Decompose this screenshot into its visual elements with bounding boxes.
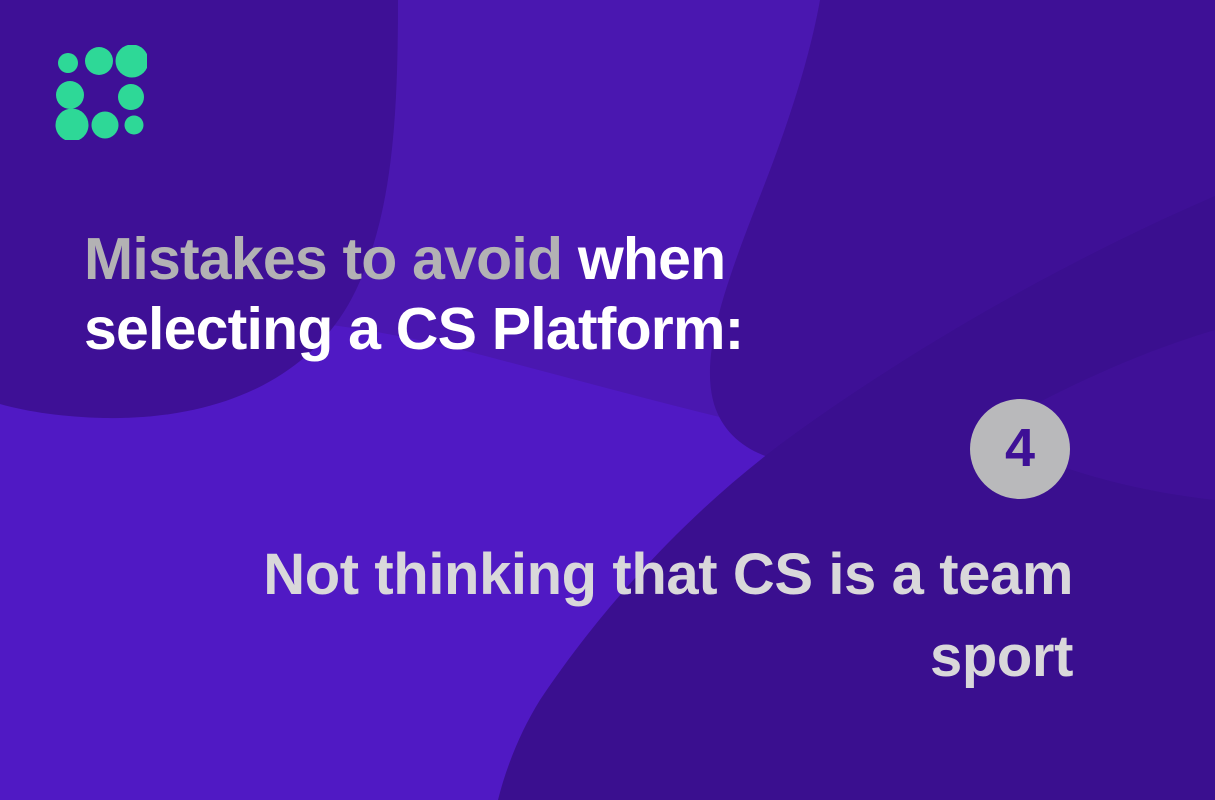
logo-dot-6	[118, 84, 144, 110]
logo-dot-7	[56, 109, 89, 141]
status-badge: 4	[970, 399, 1070, 499]
headline-space	[562, 226, 578, 292]
logo-dot-8	[92, 112, 119, 139]
slide-canvas: Mistakes to avoid when selecting a CS Pl…	[0, 0, 1215, 800]
logo-dot-9	[125, 116, 144, 135]
logo-dot-1	[58, 53, 78, 73]
badge-number-label: 4	[1005, 421, 1035, 475]
subheading: Not thinking that CS is a team sport	[243, 534, 1073, 699]
page-title: Mistakes to avoid when selecting a CS Pl…	[84, 224, 884, 364]
logo-dot-2	[85, 47, 113, 75]
logo-dot-3	[116, 45, 148, 78]
dot-grid-logo-icon	[55, 45, 147, 140]
headline-muted-text: Mistakes to avoid	[84, 226, 562, 292]
logo-dot-4	[56, 81, 84, 109]
